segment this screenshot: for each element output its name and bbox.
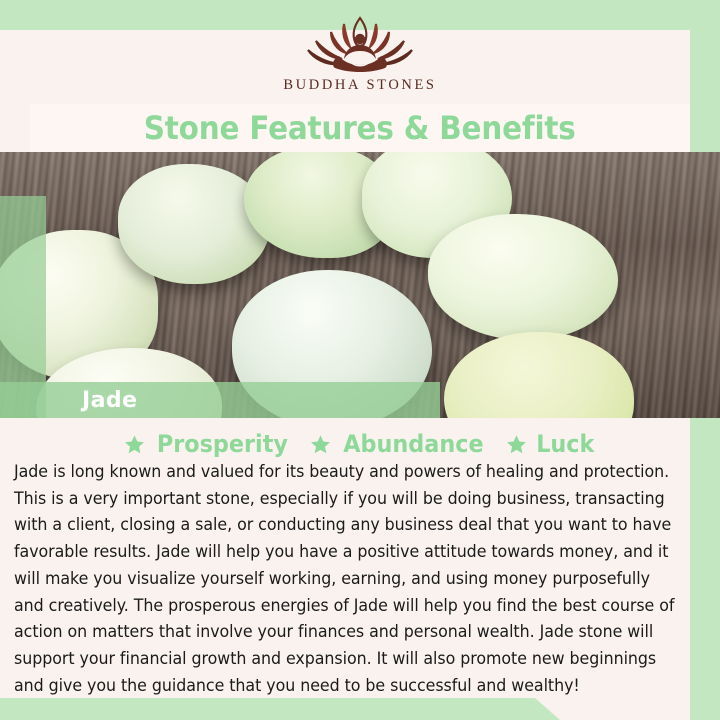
lotus-meditation-icon xyxy=(300,12,420,74)
stone-name-label: Jade xyxy=(82,388,137,413)
star-icon xyxy=(506,434,527,455)
stone-description: Jade is long known and valued for its be… xyxy=(14,459,675,699)
benefit-label: Abundance xyxy=(343,430,483,458)
stone-photo xyxy=(0,152,720,418)
stone-name-band: Jade xyxy=(0,382,440,418)
page-title: Stone Features & Benefits xyxy=(144,109,576,147)
stone-features-infographic: BUDDHA STONES Stone Features & Benefits … xyxy=(0,0,720,720)
benefit-label: Prosperity xyxy=(157,430,288,458)
brand-logo: BUDDHA STONES xyxy=(0,12,720,107)
benefit-item: Luck xyxy=(506,430,597,458)
benefit-item: Abundance xyxy=(310,430,489,458)
bottom-accent-band xyxy=(0,698,560,720)
star-icon xyxy=(124,434,145,455)
benefit-item: Prosperity xyxy=(124,430,293,458)
section-title-bar: Stone Features & Benefits xyxy=(30,104,690,152)
brand-wordmark: BUDDHA STONES xyxy=(283,77,436,94)
benefits-row: Prosperity Abundance Luck xyxy=(0,430,720,458)
star-icon xyxy=(310,434,331,455)
benefit-label: Luck xyxy=(536,430,594,458)
